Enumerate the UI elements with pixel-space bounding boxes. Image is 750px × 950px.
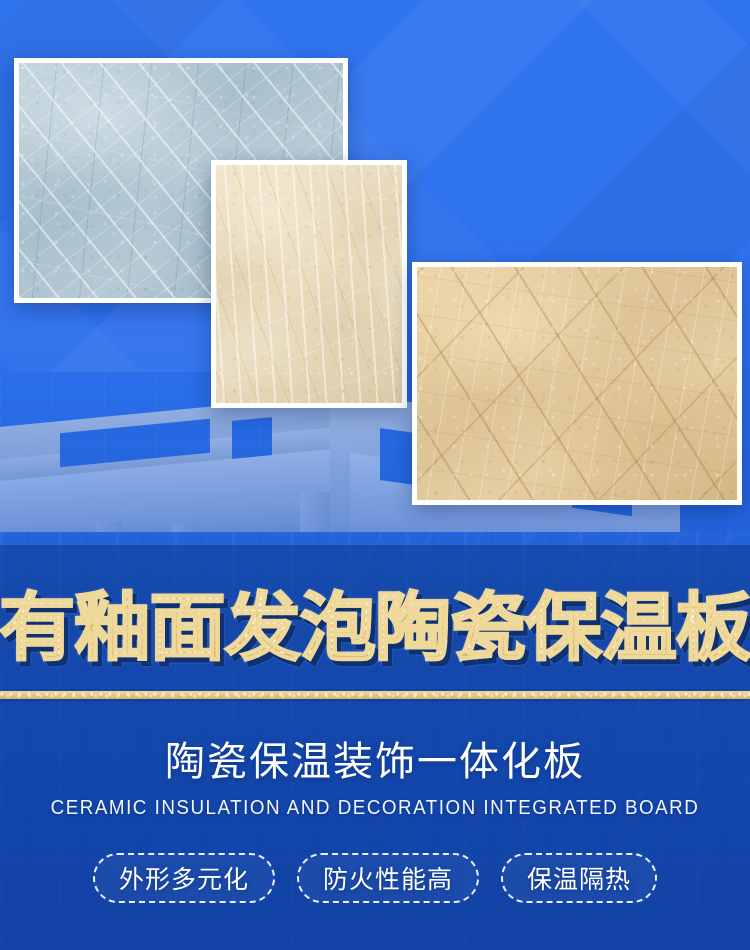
feature-pill-list: 外形多元化 防火性能高 保温隔热 [0, 853, 750, 903]
main-title: 有釉面发泡陶瓷保温板 [0, 591, 750, 665]
main-title-wrapper: 有釉面发泡陶瓷保温板 [0, 578, 750, 678]
product-banner: 有釉面发泡陶瓷保温板 陶瓷保温装饰一体化板 CERAMIC INSULATION… [0, 0, 750, 950]
tile-grain [216, 165, 402, 403]
subtitle-chinese: 陶瓷保温装饰一体化板 [0, 736, 750, 788]
tile-sample-cream-travertine [211, 160, 407, 408]
tile-sample-tan-gold-marble [412, 262, 742, 505]
feature-pill-insulation[interactable]: 保温隔热 [501, 853, 657, 903]
subtitle-english: CERAMIC INSULATION AND DECORATION INTEGR… [23, 793, 728, 823]
feature-pill-appearance[interactable]: 外形多元化 [93, 853, 275, 903]
gold-divider-bar [0, 691, 750, 699]
tile-grain [417, 267, 737, 500]
feature-pill-fireproof[interactable]: 防火性能高 [297, 853, 479, 903]
